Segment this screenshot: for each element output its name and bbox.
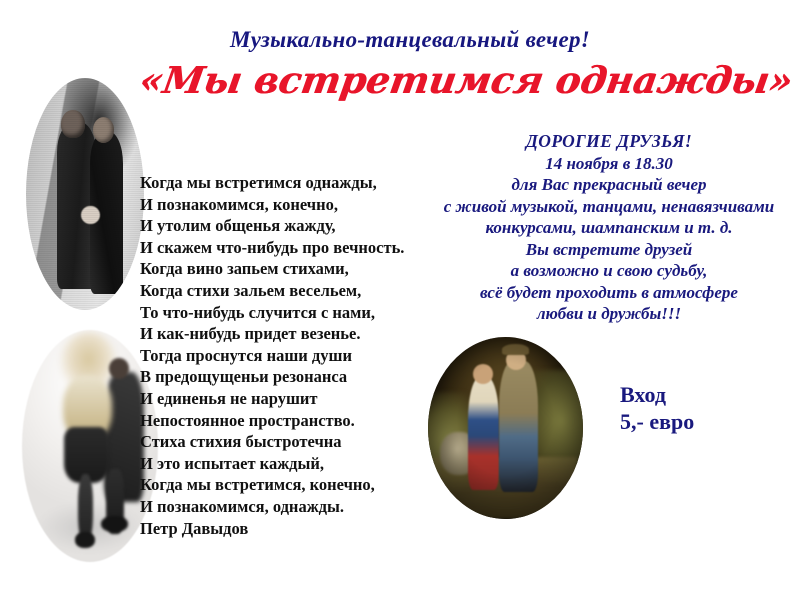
oval-photo-couple-black-and-white [26,78,144,310]
poem-line: Когда вино запьем стихами, [140,258,440,280]
poem-line: Когда мы встретимся однажды, [140,172,440,194]
poem-line: Стиха стихия быстротечна [140,431,440,453]
announcement-line: всё будет проходить в атмосфере [420,282,798,304]
poem-author: Петр Давыдов [140,518,440,540]
announcement-line: с живой музыкой, танцами, ненавязчивами [420,196,798,218]
poem-line: Когда мы встретимся, конечно, [140,474,440,496]
photo-dancer-woman-shoe [75,532,95,548]
announcement-line: для Вас прекрасный вечер [420,174,798,196]
oval-oil-painting-couple-in-forest [428,337,583,519]
poem-line: И утолим общенья жажду, [140,215,440,237]
poem-line: И познакомимся, конечно, [140,194,440,216]
poem-line: Непостоянное пространство. [140,410,440,432]
poem-line: То что-нибудь случится с нами, [140,302,440,324]
poster-headline-script-title: «Мы встретимся однажды» [137,58,684,102]
poem-line: И познакомимся, однажды. [140,496,440,518]
photo-dancer-man-head [109,358,129,379]
painting-vignette [428,337,583,519]
poem-line: Когда стихи зальем весельем, [140,280,440,302]
announcement-line: а возможно и свою судьбу, [420,260,798,282]
entry-price-block: Вход 5,- евро [620,381,694,435]
poem-line: И как-нибудь придет везенье. [140,323,440,345]
oval-photo-blurred-dancing-couple [22,330,158,562]
poem-line: И единенья не нарушит [140,388,440,410]
event-poster: Музыкально-танцевальный вечер! «Мы встре… [0,0,800,600]
photo-dancer-man-shoe [101,516,128,532]
entry-price-label: Вход [620,381,694,408]
poem-block: Когда мы встретимся однажды, И познакоми… [140,172,440,539]
announcement-title: ДОРОГИЕ ДРУЗЬЯ! [420,131,798,153]
poem-line: Тогда проснутся наши души [140,345,440,367]
poem-line: И это испытает каждый, [140,453,440,475]
announcement-line: конкурсами, шампанским и т. д. [420,217,798,239]
poem-line: И скажем что-нибудь про вечность. [140,237,440,259]
poem-line: В предощущеньи резонанса [140,366,440,388]
announcement-line: любви и дружбы!!! [420,303,798,325]
photo-grain-overlay [26,78,144,310]
announcement-line: Вы встретите друзей [420,239,798,261]
entry-price-value: 5,- евро [620,408,694,435]
announcement-line: 14 ноября в 18.30 [420,153,798,175]
poster-headline-main: Музыкально-танцевальный вечер! [150,27,670,53]
announcement-block: ДОРОГИЕ ДРУЗЬЯ! 14 ноября в 18.30 для Ва… [420,131,798,325]
